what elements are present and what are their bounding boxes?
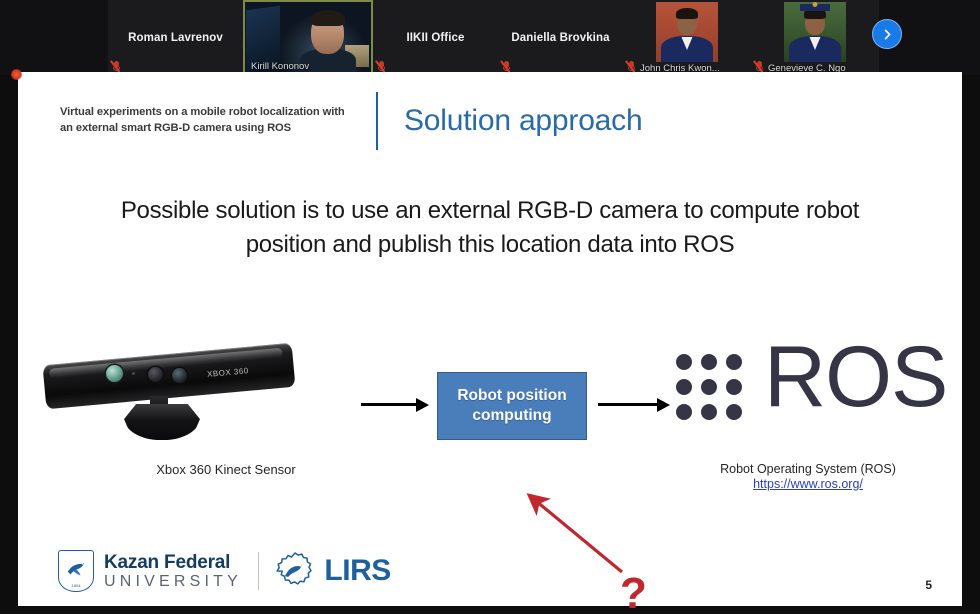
kinect-rgb-lens-icon [106, 365, 123, 382]
footer-divider [258, 552, 259, 590]
participant-tile-kirill-kononov[interactable]: Kirill Kononov [243, 0, 373, 75]
participant-tile-daniella-brovkina[interactable]: Daniella Brovkina [498, 0, 623, 75]
ros-dot-grid-icon [676, 354, 742, 420]
arrow-box-to-ros-icon [598, 396, 670, 412]
participant-name: Kirill Kononov [251, 61, 309, 72]
kfu-line2: UNIVERSITY [104, 574, 242, 590]
chevron-right-icon [881, 28, 894, 41]
participant-tile-iikii-office[interactable]: IIKII Office [373, 0, 498, 75]
griffin-emblem-icon [65, 559, 87, 579]
participant-name: Daniella Brovkina [498, 32, 623, 44]
kinect-sensor-illustration: XBOX 360 [44, 348, 294, 448]
filmstrip-left-pad [0, 0, 108, 75]
kazan-federal-university-crest-icon: 1804 [58, 550, 94, 592]
participant-avatar [784, 2, 846, 62]
ros-website-link[interactable]: https://www.ros.org/ [658, 477, 958, 491]
header-divider [376, 92, 378, 150]
participant-tile-roman-lavrenov[interactable]: Roman Lavrenov [108, 0, 243, 75]
participant-avatar [656, 2, 718, 62]
presentation-slide: Virtual experiments on a mobile robot lo… [18, 72, 962, 606]
kfu-wordmark: Kazan Federal UNIVERSITY [104, 553, 242, 590]
participant-tile-john-chris-kwon[interactable]: John Chris Kwon... [623, 0, 751, 75]
participant-filmstrip: Roman Lavrenov Kirill Kononov IIKII Offi… [0, 0, 980, 75]
ros-caption-text: Robot Operating System (ROS) [720, 462, 896, 476]
participant-name: IIKII Office [373, 32, 498, 44]
slide-title: Solution approach [404, 104, 642, 138]
kfu-line1: Kazan Federal [104, 553, 242, 572]
kinect-ir-emitter-icon [148, 367, 163, 382]
ros-wordmark: ROS [764, 334, 947, 420]
kinect-caption: Xbox 360 Kinect Sensor [48, 462, 404, 477]
ros-caption: Robot Operating System (ROS) https://www… [658, 462, 958, 491]
participant-name: Roman Lavrenov [108, 32, 243, 44]
gear-shape-icon [275, 551, 315, 591]
solution-diagram: XBOX 360 Xbox 360 Kinect Sensor Robot po… [18, 334, 962, 509]
slide-header: Virtual experiments on a mobile robot lo… [60, 92, 642, 150]
slide-statement: Possible solution is to use an external … [78, 194, 902, 262]
question-mark-annotation: ? [620, 572, 647, 614]
crest-year: 1804 [59, 583, 93, 588]
zoom-meeting-window: Roman Lavrenov Kirill Kononov IIKII Offi… [0, 0, 980, 614]
arrow-sensor-to-box-icon [361, 396, 429, 412]
lirs-wordmark: LIRS [324, 554, 390, 588]
kinect-depth-lens-icon [172, 368, 187, 383]
annotation-cursor-dot [11, 69, 22, 80]
slide-footer-logos: 1804 Kazan Federal UNIVERSITY LIRS [58, 550, 391, 592]
slide-number: 5 [925, 578, 932, 592]
participant-tile-genevieve-c-ngo[interactable]: Genevieve C. Ngo [751, 0, 879, 75]
slide-subtitle: Virtual experiments on a mobile robot lo… [60, 105, 360, 137]
ros-logo: ROS [668, 342, 958, 442]
process-box-line2: computing [472, 407, 551, 424]
robot-position-computing-box: Robot position computing [437, 372, 587, 440]
next-participants-button[interactable] [872, 19, 902, 49]
lirs-gear-icon [275, 551, 315, 591]
process-box-line1: Robot position [457, 387, 566, 404]
